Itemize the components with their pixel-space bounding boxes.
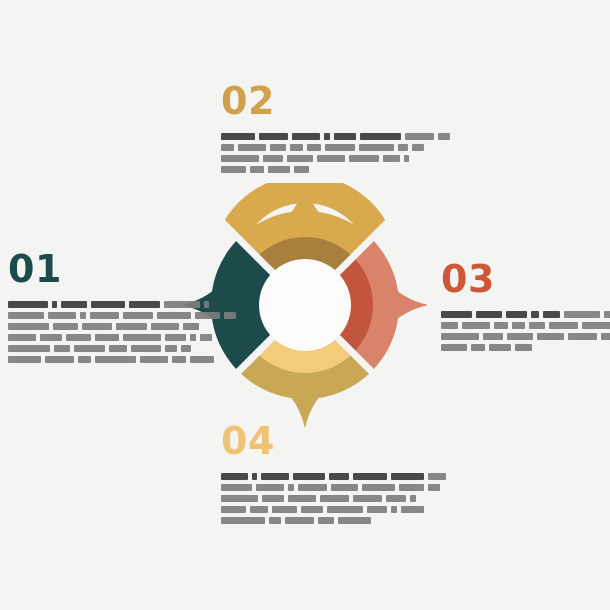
paragraph-word <box>82 323 112 330</box>
paragraph-word <box>261 473 289 480</box>
step-number-04: 04 <box>221 422 385 460</box>
paragraph-word <box>80 312 86 319</box>
paragraph-word <box>165 334 186 341</box>
paragraph-line <box>221 473 385 480</box>
paragraph-word <box>549 322 578 329</box>
paragraph-word <box>221 166 246 173</box>
paragraph-word <box>48 312 76 319</box>
paragraph-word <box>263 155 283 162</box>
paragraph-word <box>78 356 91 363</box>
paragraph-word <box>398 144 408 151</box>
paragraph-word <box>61 301 87 308</box>
paragraph-word <box>301 506 323 513</box>
paragraph-word <box>383 155 400 162</box>
paragraph-word <box>288 484 294 491</box>
paragraph-word <box>8 345 50 352</box>
paragraph-word <box>307 144 321 151</box>
step-number-01: 01 <box>8 250 176 288</box>
paragraph-word <box>438 133 450 140</box>
paragraph-word <box>269 517 281 524</box>
paragraph-word <box>221 155 259 162</box>
paragraph-word <box>582 322 610 329</box>
paragraph-word <box>604 311 610 318</box>
paragraph-word <box>224 312 236 319</box>
paragraph-line <box>221 517 385 524</box>
step-paragraph-01 <box>8 301 176 363</box>
paragraph-line <box>8 301 176 308</box>
paragraph-word <box>195 312 220 319</box>
paragraph-word <box>285 517 314 524</box>
step-paragraph-02 <box>221 133 385 173</box>
paragraph-word <box>329 473 349 480</box>
paragraph-line <box>221 144 385 151</box>
paragraph-word <box>8 301 48 308</box>
paragraph-word <box>529 322 545 329</box>
paragraph-word <box>288 495 316 502</box>
paragraph-word <box>8 334 36 341</box>
paragraph-word <box>221 144 234 151</box>
paragraph-word <box>399 484 424 491</box>
paragraph-word <box>537 333 564 340</box>
paragraph-word <box>221 473 248 480</box>
paragraph-line <box>221 166 385 173</box>
paragraph-word <box>331 484 358 491</box>
step-paragraph-03 <box>441 311 604 351</box>
paragraph-word <box>324 133 330 140</box>
paragraph-word <box>334 133 356 140</box>
paragraph-word <box>412 144 424 151</box>
paragraph-word <box>290 144 303 151</box>
paragraph-word <box>256 484 284 491</box>
paragraph-word <box>250 166 264 173</box>
paragraph-word <box>259 133 288 140</box>
paragraph-word <box>190 356 214 363</box>
paragraph-word <box>109 345 127 352</box>
paragraph-line <box>441 322 604 329</box>
paragraph-word <box>66 334 91 341</box>
paragraph-word <box>183 323 199 330</box>
paragraph-word <box>129 301 160 308</box>
paragraph-word <box>200 334 212 341</box>
paragraph-word <box>165 345 177 352</box>
paragraph-word <box>362 484 395 491</box>
step-block-01[interactable]: 01 <box>8 250 176 363</box>
paragraph-word <box>74 345 105 352</box>
paragraph-word <box>367 506 387 513</box>
paragraph-line <box>221 495 385 502</box>
circular-diagram <box>175 175 435 435</box>
paragraph-word <box>441 333 479 340</box>
paragraph-word <box>410 495 416 502</box>
paragraph-word <box>221 133 255 140</box>
paragraph-word <box>53 323 78 330</box>
paragraph-word <box>221 495 258 502</box>
paragraph-line <box>441 344 604 351</box>
step-number-02: 02 <box>221 82 385 120</box>
paragraph-word <box>353 473 387 480</box>
paragraph-word <box>262 495 284 502</box>
paragraph-word <box>483 333 503 340</box>
paragraph-word <box>462 322 490 329</box>
paragraph-line <box>441 311 604 318</box>
paragraph-word <box>471 344 485 351</box>
paragraph-word <box>131 345 161 352</box>
paragraph-word <box>91 301 125 308</box>
paragraph-word <box>123 334 161 341</box>
paragraph-word <box>238 144 266 151</box>
paragraph-word <box>391 473 424 480</box>
step-paragraph-04 <box>221 473 385 524</box>
paragraph-word <box>325 144 355 151</box>
paragraph-word <box>512 322 525 329</box>
step-block-04[interactable]: 04 <box>221 422 385 524</box>
paragraph-word <box>252 473 257 480</box>
paragraph-line <box>221 484 385 491</box>
paragraph-word <box>441 344 467 351</box>
paragraph-word <box>568 333 597 340</box>
paragraph-line <box>8 356 176 363</box>
paragraph-word <box>317 155 345 162</box>
step-block-02[interactable]: 02 <box>221 82 385 173</box>
paragraph-word <box>90 312 119 319</box>
paragraph-word <box>52 301 57 308</box>
step-block-03[interactable]: 03 <box>441 260 604 351</box>
paragraph-word <box>320 495 349 502</box>
paragraph-word <box>349 155 379 162</box>
paragraph-word <box>268 166 290 173</box>
paragraph-word <box>601 333 610 340</box>
paragraph-word <box>401 506 424 513</box>
paragraph-word <box>507 333 533 340</box>
paragraph-line <box>8 345 176 352</box>
paragraph-word <box>54 345 70 352</box>
paragraph-word <box>287 155 313 162</box>
paragraph-word <box>359 144 394 151</box>
paragraph-word <box>543 311 560 318</box>
paragraph-word <box>164 301 200 308</box>
paragraph-word <box>172 356 186 363</box>
paragraph-word <box>95 356 136 363</box>
paragraph-word <box>327 506 363 513</box>
paragraph-line <box>441 333 604 340</box>
paragraph-word <box>360 133 401 140</box>
diagram-center-hole <box>260 260 350 350</box>
paragraph-word <box>353 495 382 502</box>
paragraph-word <box>293 473 325 480</box>
paragraph-word <box>221 506 246 513</box>
paragraph-word <box>515 344 532 351</box>
paragraph-word <box>8 356 41 363</box>
paragraph-word <box>45 356 74 363</box>
paragraph-word <box>506 311 527 318</box>
infographic-canvas: 01 02 03 04 <box>0 0 610 610</box>
paragraph-word <box>190 334 196 341</box>
paragraph-word <box>123 312 153 319</box>
paragraph-word <box>338 517 371 524</box>
paragraph-word <box>204 301 209 308</box>
paragraph-line <box>221 506 385 513</box>
paragraph-word <box>531 311 539 318</box>
paragraph-word <box>564 311 600 318</box>
paragraph-word <box>386 495 406 502</box>
paragraph-word <box>428 473 446 480</box>
paragraph-word <box>250 506 268 513</box>
paragraph-word <box>181 345 191 352</box>
paragraph-word <box>441 322 458 329</box>
paragraph-word <box>151 323 179 330</box>
paragraph-word <box>292 133 320 140</box>
paragraph-line <box>221 133 385 140</box>
paragraph-word <box>391 506 397 513</box>
paragraph-line <box>8 323 176 330</box>
paragraph-word <box>116 323 147 330</box>
paragraph-line <box>221 155 385 162</box>
paragraph-word <box>8 323 49 330</box>
paragraph-word <box>270 144 286 151</box>
step-number-03: 03 <box>441 260 604 298</box>
paragraph-word <box>95 334 119 341</box>
paragraph-word <box>441 311 472 318</box>
paragraph-word <box>272 506 297 513</box>
paragraph-word <box>294 166 309 173</box>
paragraph-word <box>157 312 191 319</box>
paragraph-line <box>8 334 176 341</box>
paragraph-word <box>405 133 434 140</box>
paragraph-word <box>476 311 502 318</box>
paragraph-word <box>428 484 440 491</box>
paragraph-word <box>318 517 334 524</box>
paragraph-word <box>298 484 327 491</box>
paragraph-word <box>40 334 62 341</box>
paragraph-word <box>221 484 252 491</box>
paragraph-word <box>494 322 508 329</box>
paragraph-word <box>140 356 168 363</box>
paragraph-word <box>221 517 265 524</box>
circular-diagram-svg <box>175 175 435 435</box>
paragraph-word <box>404 155 409 162</box>
paragraph-word <box>489 344 511 351</box>
paragraph-line <box>8 312 176 319</box>
paragraph-word <box>8 312 44 319</box>
